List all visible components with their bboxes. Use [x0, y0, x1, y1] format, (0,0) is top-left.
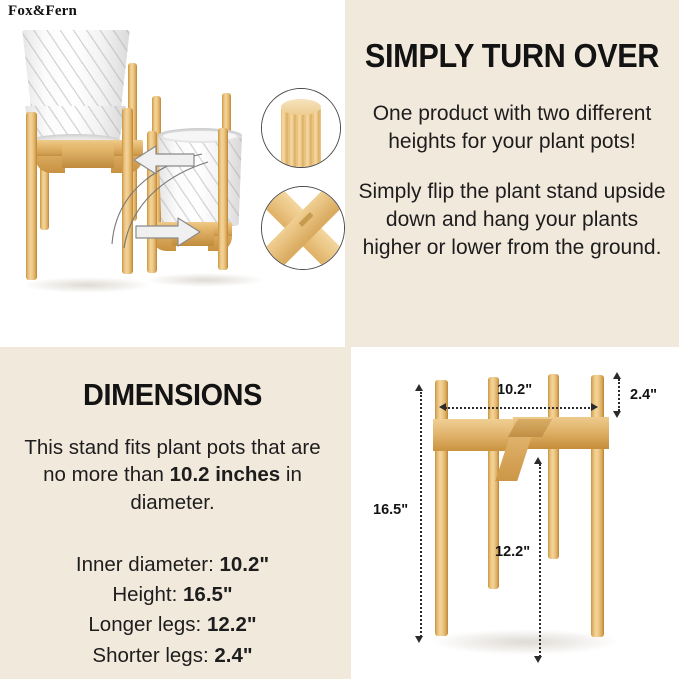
- measure-arrow-inner-width-left: [439, 403, 446, 411]
- measure-line-shorter-legs: [618, 379, 620, 411]
- turn-over-paragraph-2: Simply flip the plant stand upside down …: [357, 178, 667, 262]
- stand-left-leg-front-left: [26, 112, 37, 280]
- measure-arrow-longer-legs-bottom: [534, 656, 542, 663]
- measure-line-longer-legs: [539, 464, 541, 657]
- spec-row-shorter-legs: Shorter legs: 2.4": [10, 641, 335, 671]
- dimensions-spec-list: Inner diameter: 10.2" Height: 16.5" Long…: [10, 550, 335, 671]
- measure-arrow-inner-width-right: [591, 403, 598, 411]
- plant-pot-left: [20, 30, 132, 110]
- spec-row-inner-diameter: Inner diameter: 10.2": [10, 550, 335, 580]
- dimensions-text-panel: DIMENSIONS This stand fits plant pots th…: [0, 347, 345, 679]
- measure-arrow-total-height-bottom: [415, 636, 423, 643]
- product-scene: [0, 0, 345, 347]
- product-infographic: Fox&Fern: [0, 0, 679, 679]
- turn-over-paragraph-1: One product with two different heights f…: [367, 100, 657, 156]
- spec-row-longer-legs: Longer legs: 12.2": [10, 610, 335, 640]
- pot-rib-texture-left: [20, 30, 132, 110]
- diagram-leg-front-right: [591, 375, 604, 637]
- detail-circle-cross-joint: [261, 186, 345, 270]
- measure-arrow-shorter-legs-bottom: [613, 411, 621, 418]
- dimension-diagram-scene: 10.2" 2.4" 16.5" 12.2": [345, 347, 679, 679]
- measure-label-shorter-legs: 2.4": [630, 387, 657, 403]
- diagram-leg-back-right-stub: [548, 374, 559, 559]
- spec-value: 16.5": [183, 583, 233, 606]
- measure-label-longer-legs: 12.2": [495, 544, 530, 560]
- swap-arrows: [72, 132, 262, 260]
- spec-value: 2.4": [214, 644, 252, 667]
- dimensions-title: DIMENSIONS: [12, 379, 333, 410]
- measure-label-inner-width: 10.2": [497, 382, 532, 398]
- shadow-left-stand: [22, 277, 152, 293]
- measure-arrow-total-height-top: [415, 384, 423, 391]
- measure-arrow-shorter-legs-top: [613, 372, 621, 379]
- dimension-diagram-panel: 10.2" 2.4" 16.5" 12.2": [345, 347, 679, 679]
- diagram-rail-left: [433, 419, 515, 451]
- leg-end-cylinder-body: [281, 107, 321, 168]
- spec-label: Height:: [112, 583, 177, 606]
- measure-line-total-height: [420, 392, 422, 637]
- turn-over-title: SIMPLY TURN OVER: [357, 39, 668, 72]
- measure-arrow-longer-legs-top: [534, 457, 542, 464]
- detail-circle-leg-end: [261, 88, 341, 168]
- product-photo-panel: Fox&Fern: [0, 0, 345, 347]
- shadow-right-stand: [145, 273, 265, 287]
- spec-row-height: Height: 16.5": [10, 580, 335, 610]
- spec-label: Shorter legs:: [92, 644, 208, 667]
- dimensions-intro: This stand fits plant pots that are no m…: [14, 434, 331, 516]
- turn-over-panel: SIMPLY TURN OVER One product with two di…: [345, 0, 679, 347]
- spec-label: Inner diameter:: [76, 553, 214, 576]
- spec-label: Longer legs:: [88, 613, 201, 636]
- measure-label-total-height: 16.5": [373, 502, 408, 518]
- leg-end-cylinder-top: [281, 99, 321, 115]
- dimensions-intro-bold: 10.2 inches: [170, 463, 281, 486]
- measure-line-inner-width: [445, 407, 593, 409]
- spec-value: 12.2": [207, 613, 257, 636]
- spec-value: 10.2": [219, 553, 269, 576]
